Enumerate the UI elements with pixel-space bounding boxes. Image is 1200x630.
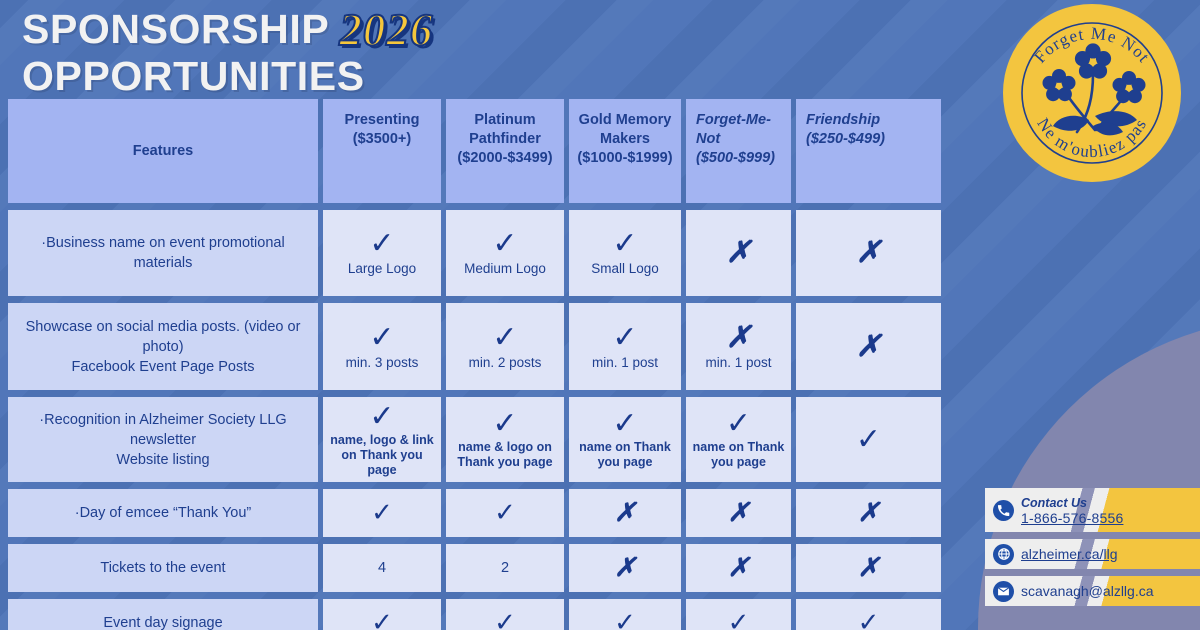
contact-phone-bar[interactable]: Contact Us 1-866-576-8556 — [985, 488, 1200, 532]
feature-text: Tickets to the event — [100, 558, 225, 578]
cell-platinum: ✓ min. 2 posts — [446, 303, 564, 390]
check-icon: ✓ — [371, 500, 393, 526]
cell-value: 2 — [501, 560, 509, 576]
envelope-icon — [993, 581, 1014, 602]
cell-presenting: ✓ name, logo & link on Thank you page — [323, 397, 441, 482]
check-icon: ✓ — [494, 500, 516, 526]
cell-gold: ✓ min. 1 post — [569, 303, 681, 390]
title-year: 2026 — [339, 4, 433, 56]
cell-note: name, logo & link on Thank you page — [329, 433, 435, 478]
cell-platinum: 2 — [446, 544, 564, 592]
feature-label: ·Day of emcee “Thank You” — [8, 489, 318, 537]
feature-text-line3: Website listing — [116, 450, 209, 470]
cross-icon: ✗ — [728, 500, 750, 526]
cell-note: name on Thank you page — [692, 440, 785, 470]
header-gold-name: Gold Memory Makers — [575, 111, 675, 149]
cross-icon: ✗ — [728, 555, 750, 581]
cell-forget-me-not: ✓ — [686, 599, 791, 630]
check-icon: ✓ — [612, 409, 637, 439]
contact-email-bar[interactable]: scavanagh@alzllg.ca — [985, 576, 1200, 606]
feature-text: ·Day of emcee “Thank You” — [75, 503, 252, 523]
header-forget-me-not: Forget-Me-Not ($500-$999) — [686, 99, 791, 203]
feature-label: Showcase on social media posts. (video o… — [8, 303, 318, 390]
feature-label: Tickets to the event — [8, 544, 318, 592]
contact-website-link[interactable]: alzheimer.ca/llg — [1021, 546, 1118, 562]
cell-gold: ✓ name on Thank you page — [569, 397, 681, 482]
cell-note: min. 1 post — [592, 354, 658, 371]
cell-friendship: ✓ — [796, 599, 941, 630]
cell-value: 4 — [378, 560, 386, 576]
check-icon: ✓ — [492, 409, 517, 439]
header-platinum: Platinum Pathfinder ($2000-$3499) — [446, 99, 564, 203]
cell-gold: ✗ — [569, 489, 681, 537]
table-row: ·Business name on event promotional mate… — [8, 210, 978, 296]
check-icon: ✓ — [371, 610, 393, 630]
table-header-row: Features Presenting ($3500+) Platinum Pa… — [8, 99, 978, 203]
cell-forget-me-not: ✗ — [686, 544, 791, 592]
cell-platinum: ✓ — [446, 489, 564, 537]
cell-note: Small Logo — [591, 260, 659, 277]
sponsorship-tiers-table: Features Presenting ($3500+) Platinum Pa… — [8, 99, 978, 630]
check-icon: ✓ — [612, 323, 637, 353]
cell-forget-me-not: ✗ — [686, 210, 791, 296]
contact-panel: Contact Us 1-866-576-8556 — [985, 488, 1200, 613]
check-icon: ✓ — [494, 610, 516, 630]
cross-icon: ✗ — [856, 332, 881, 362]
header-forget-me-not-name: Forget-Me-Not — [696, 111, 785, 149]
cross-icon: ✗ — [614, 555, 636, 581]
cell-presenting: ✓ min. 3 posts — [323, 303, 441, 390]
contact-email-address[interactable]: scavanagh@alzllg.ca — [1021, 583, 1154, 599]
header-features: Features — [8, 99, 318, 203]
header-platinum-price: ($2000-$3499) — [457, 149, 552, 168]
cell-forget-me-not: ✗ min. 1 post — [686, 303, 791, 390]
cell-friendship: ✗ — [796, 303, 941, 390]
cell-gold: ✓ — [569, 599, 681, 630]
page-title: SPONSORSHIP 2026 OPPORTUNITIES — [22, 2, 433, 99]
cell-note: min. 1 post — [705, 354, 771, 371]
header-friendship: Friendship ($250-$499) — [796, 99, 941, 203]
feature-label: ·Recognition in Alzheimer Society LLG ne… — [8, 397, 318, 482]
cell-platinum: ✓ — [446, 599, 564, 630]
table-row: Showcase on social media posts. (video o… — [8, 303, 978, 390]
check-icon: ✓ — [728, 610, 750, 630]
cell-note: Medium Logo — [464, 260, 546, 277]
check-icon: ✓ — [492, 323, 517, 353]
cell-platinum: ✓ Medium Logo — [446, 210, 564, 296]
cell-note: Large Logo — [348, 260, 416, 277]
forget-me-not-logo: Forget Me Not Ne m'oubliez pas — [1003, 4, 1181, 182]
title-line-1: SPONSORSHIP — [22, 7, 329, 52]
globe-icon — [993, 544, 1014, 565]
cell-presenting: 4 — [323, 544, 441, 592]
cell-platinum: ✓ name & logo on Thank you page — [446, 397, 564, 482]
contact-phone-number[interactable]: 1-866-576-8556 — [1021, 510, 1123, 526]
header-forget-me-not-price: ($500-$999) — [696, 149, 775, 168]
check-icon: ✓ — [492, 229, 517, 259]
cell-presenting: ✓ — [323, 489, 441, 537]
cell-friendship: ✗ — [796, 210, 941, 296]
cell-forget-me-not: ✗ — [686, 489, 791, 537]
table-row: ·Recognition in Alzheimer Society LLG ne… — [8, 397, 978, 482]
feature-text-line2: Facebook Event Page Posts — [72, 357, 255, 377]
cross-icon: ✗ — [726, 323, 751, 353]
feature-text: Event day signage — [103, 613, 222, 630]
feature-text-line1: ·Recognition in Alzheimer Society LLG — [39, 410, 286, 430]
header-gold-price: ($1000-$1999) — [577, 149, 672, 168]
check-icon: ✓ — [858, 610, 880, 630]
check-icon: ✓ — [612, 229, 637, 259]
check-icon: ✓ — [369, 323, 394, 353]
poster-canvas: SPONSORSHIP 2026 OPPORTUNITIES Forget Me… — [0, 0, 1200, 630]
cell-note: min. 2 posts — [469, 354, 542, 371]
contact-label: Contact Us — [1021, 496, 1087, 510]
header-presenting-name: Presenting — [345, 111, 420, 130]
cross-icon: ✗ — [858, 500, 880, 526]
contact-website-bar[interactable]: alzheimer.ca/llg — [985, 539, 1200, 569]
cell-forget-me-not: ✓ name on Thank you page — [686, 397, 791, 482]
cross-icon: ✗ — [726, 238, 751, 268]
title-line-2: OPPORTUNITIES — [22, 54, 433, 99]
feature-text: ·Business name on event promotional mate… — [14, 233, 312, 273]
table-row: ·Day of emcee “Thank You” ✓ ✓ ✗ ✗ ✗ — [8, 489, 978, 537]
table-row: Tickets to the event 4 2 ✗ ✗ ✗ — [8, 544, 978, 592]
header-friendship-price: ($250-$499) — [806, 130, 885, 149]
header-platinum-name: Platinum Pathfinder — [452, 111, 558, 149]
header-gold: Gold Memory Makers ($1000-$1999) — [569, 99, 681, 203]
phone-icon — [993, 500, 1014, 521]
cell-gold: ✗ — [569, 544, 681, 592]
cell-presenting: ✓ — [323, 599, 441, 630]
feature-label: Event day signage — [8, 599, 318, 630]
cross-icon: ✗ — [856, 238, 881, 268]
cross-icon: ✗ — [858, 555, 880, 581]
check-icon: ✓ — [369, 229, 394, 259]
header-friendship-name: Friendship — [806, 111, 880, 130]
cell-presenting: ✓ Large Logo — [323, 210, 441, 296]
check-icon: ✓ — [726, 409, 751, 439]
cell-note: min. 3 posts — [346, 354, 419, 371]
cell-friendship: ✗ — [796, 489, 941, 537]
header-presenting: Presenting ($3500+) — [323, 99, 441, 203]
table-row: Event day signage ✓ ✓ ✓ ✓ ✓ — [8, 599, 978, 630]
feature-text-line1: Showcase on social media posts. (video o… — [14, 317, 312, 357]
cell-gold: ✓ Small Logo — [569, 210, 681, 296]
check-icon: ✓ — [614, 610, 636, 630]
header-presenting-price: ($3500+) — [353, 130, 411, 149]
check-icon: ✓ — [369, 402, 394, 432]
cell-friendship: ✗ — [796, 544, 941, 592]
cell-note: name & logo on Thank you page — [452, 440, 558, 470]
cross-icon: ✗ — [614, 500, 636, 526]
header-features-label: Features — [133, 142, 193, 161]
feature-text-line2: newsletter — [130, 430, 196, 450]
check-icon: ✓ — [856, 425, 881, 455]
cell-note: name on Thank you page — [575, 440, 675, 470]
feature-label: ·Business name on event promotional mate… — [8, 210, 318, 296]
cell-friendship: ✓ — [796, 397, 941, 482]
